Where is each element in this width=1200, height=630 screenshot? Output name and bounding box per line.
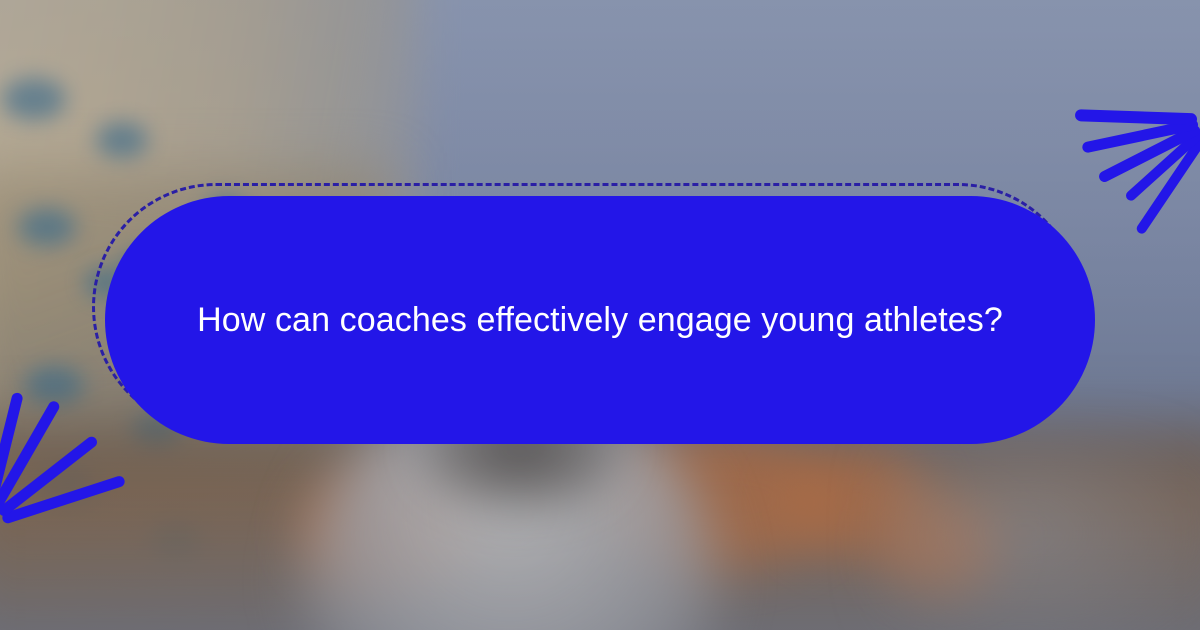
quote-bubble: How can coaches effectively engage young… bbox=[105, 196, 1095, 444]
social-quote-card: How can coaches effectively engage young… bbox=[0, 0, 1200, 630]
quote-text: How can coaches effectively engage young… bbox=[105, 196, 1095, 444]
